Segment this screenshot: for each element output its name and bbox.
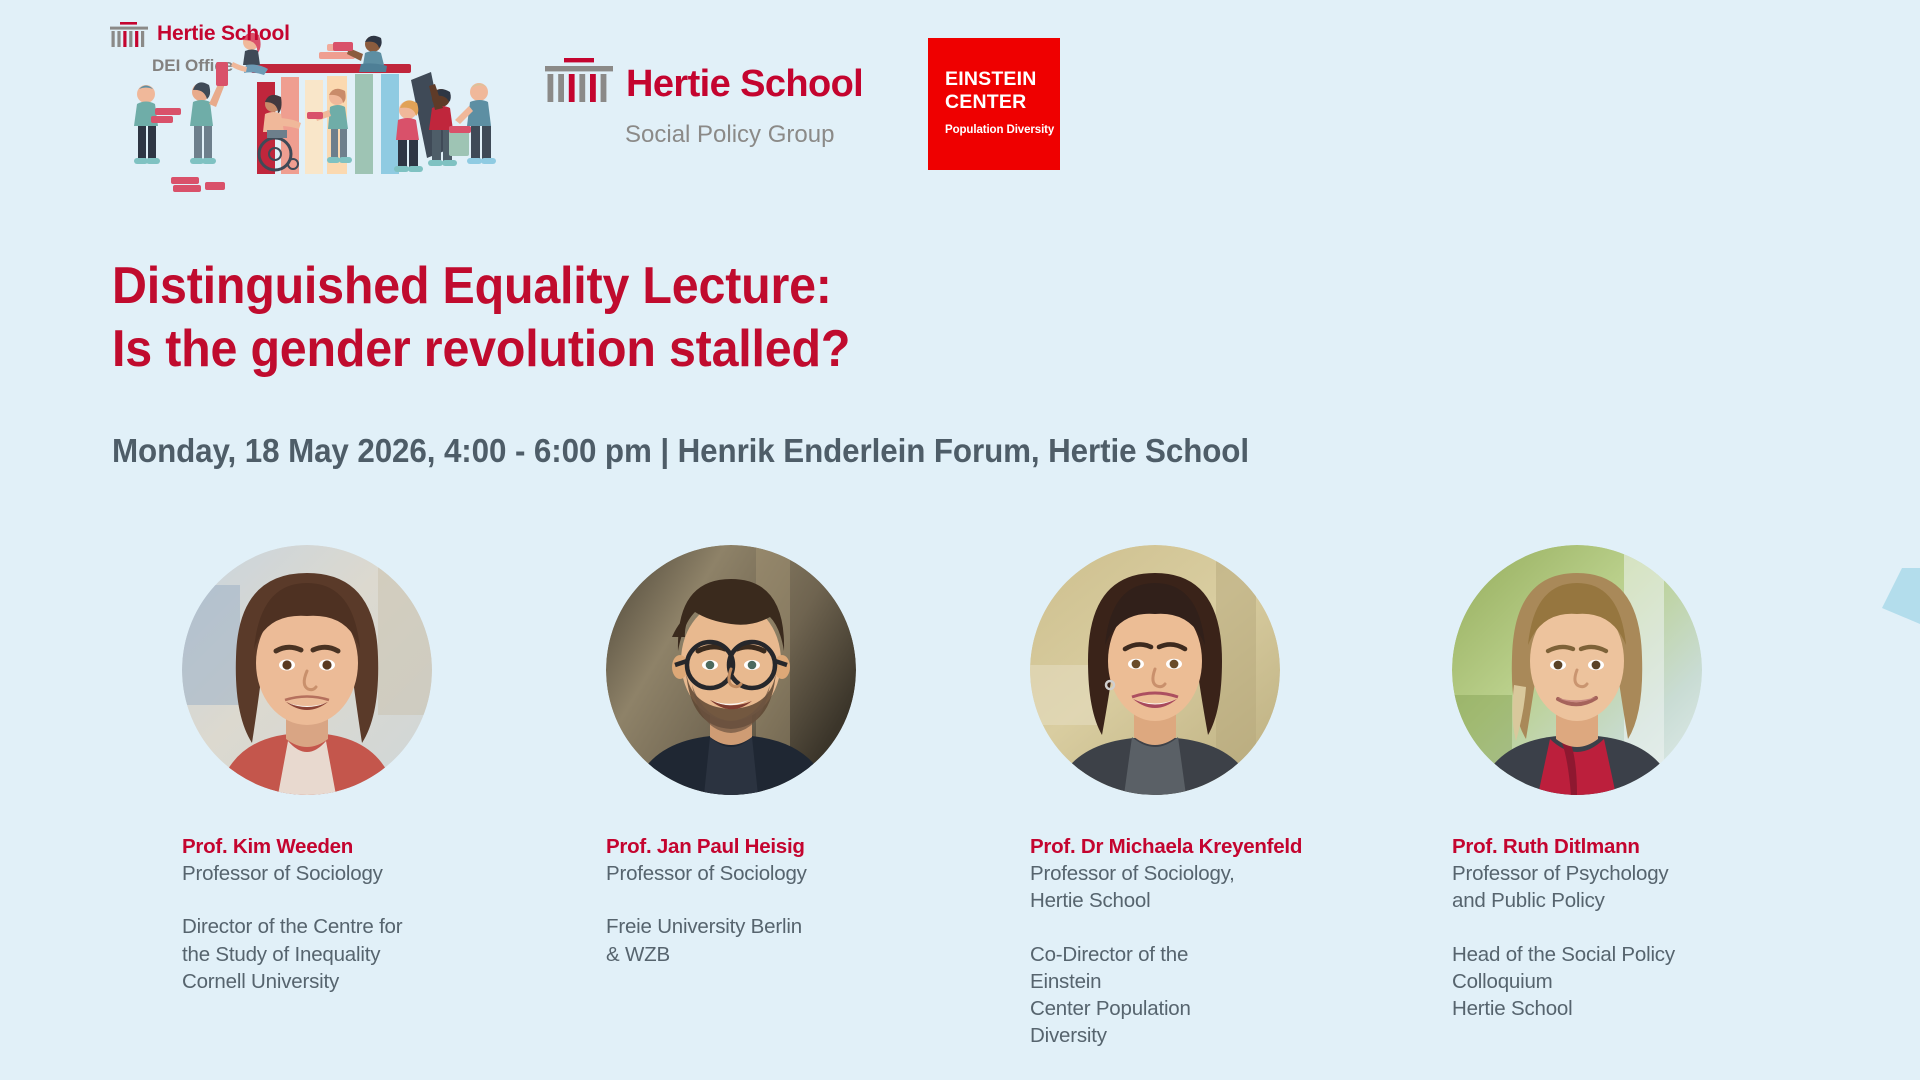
event-details: Monday, 18 May 2026, 4:00 - 6:00 pm | He… bbox=[112, 432, 1249, 470]
speaker-name: Prof. Kim Weeden bbox=[182, 833, 420, 860]
speaker-card: Prof. Kim Weeden Professor of Sociology … bbox=[0, 545, 420, 1050]
portrait-ruth-ditlmann bbox=[1452, 545, 1702, 795]
speaker-role: Professor of Sociology bbox=[606, 860, 840, 887]
speaker-card: Prof. Dr Michaela Kreyenfeld Professor o… bbox=[840, 545, 1260, 1050]
logo-row: Hertie School DEI Office bbox=[0, 0, 1920, 200]
speaker-name: Prof. Ruth Ditlmann bbox=[1452, 833, 1680, 860]
speaker-card: Prof. Ruth Ditlmann Professor of Psychol… bbox=[1260, 545, 1680, 1050]
speaker-affiliation: Freie University Berlin & WZB bbox=[606, 913, 840, 968]
speaker-affiliation: Co-Director of the Einstein Center Popul… bbox=[1030, 941, 1260, 1050]
speaker-card: Prof. Jan Paul Heisig Professor of Socio… bbox=[420, 545, 840, 1050]
speaker-caption: Prof. Jan Paul Heisig Professor of Socio… bbox=[606, 833, 840, 968]
title-line-2: Is the gender revolution stalled? bbox=[112, 318, 1414, 381]
speaker-affiliation: Director of the Centre for the Study of … bbox=[182, 913, 420, 995]
brandenburg-gate-icon bbox=[110, 22, 148, 53]
einstein-center-line2: CENTER bbox=[945, 91, 1050, 114]
dei-logo-name: Hertie School bbox=[157, 22, 290, 45]
speaker-role: Professor of Sociology, Hertie School bbox=[1030, 860, 1260, 915]
portrait-michaela-kreyenfeld bbox=[1030, 545, 1280, 795]
title-line-1: Distinguished Equality Lecture: bbox=[112, 255, 1414, 318]
people-building-bar-chart-illustration bbox=[105, 32, 505, 192]
speaker-caption: Prof. Dr Michaela Kreyenfeld Professor o… bbox=[1030, 833, 1260, 1050]
dei-office-logo: Hertie School DEI Office bbox=[110, 22, 510, 192]
speaker-role: Professor of Sociology bbox=[182, 860, 420, 887]
einstein-center-line1: EINSTEIN bbox=[945, 68, 1050, 91]
speaker-name: Prof. Dr Michaela Kreyenfeld bbox=[1030, 833, 1260, 860]
speaker-caption: Prof. Ruth Ditlmann Professor of Psychol… bbox=[1452, 833, 1680, 1022]
dei-wordmark-group: Hertie School bbox=[110, 22, 510, 53]
speaker-list: Prof. Kim Weeden Professor of Sociology … bbox=[0, 545, 1920, 1050]
brandenburg-gate-icon bbox=[545, 58, 613, 109]
portrait-kim-weeden bbox=[182, 545, 432, 795]
speaker-role: Professor of Psychology and Public Polic… bbox=[1452, 860, 1680, 915]
event-poster: Hertie School DEI Office bbox=[0, 0, 1920, 1080]
einstein-center-tagline: Population Diversity bbox=[945, 124, 1050, 136]
hertie-school-logo-unit: Social Policy Group bbox=[625, 121, 865, 149]
speaker-caption: Prof. Kim Weeden Professor of Sociology … bbox=[182, 833, 420, 995]
hertie-school-logo-name: Hertie School bbox=[626, 65, 863, 103]
portrait-jan-paul-heisig bbox=[606, 545, 856, 795]
page-title: Distinguished Equality Lecture: Is the g… bbox=[112, 255, 1512, 382]
einstein-center-logo: EINSTEIN CENTER Population Diversity bbox=[928, 38, 1060, 170]
speaker-affiliation: Head of the Social Policy Colloquium Her… bbox=[1452, 941, 1680, 1023]
hertie-school-social-policy-logo: Hertie School Social Policy Group bbox=[545, 58, 865, 149]
speaker-name: Prof. Jan Paul Heisig bbox=[606, 833, 840, 860]
